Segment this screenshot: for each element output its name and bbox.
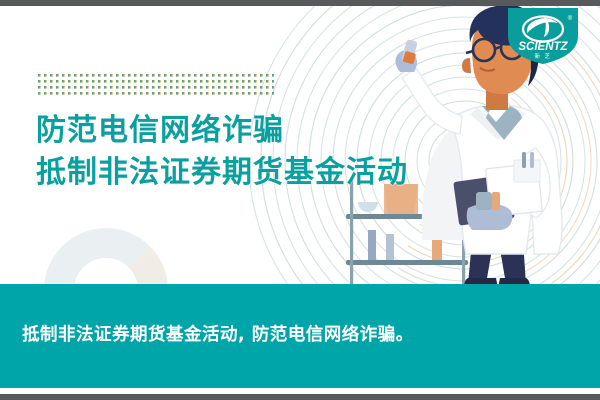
bottom-chrome-bar: [0, 394, 600, 400]
headline-block: 防范电信网络诈骗 抵制非法证券期货基金活动: [36, 110, 408, 194]
scientz-logo[interactable]: SCIENTZ 新 芝 ®: [504, 8, 582, 64]
poster-canvas: 防范电信网络诈骗 抵制非法证券期货基金活动: [0, 6, 600, 394]
headline-line-2: 抵制非法证券期货基金活动: [36, 152, 408, 194]
logo-wordmark: SCIENTZ: [518, 41, 568, 53]
registered-mark-icon: ®: [568, 15, 573, 22]
poster-root: 防范电信网络诈骗 抵制非法证券期货基金活动: [0, 0, 600, 400]
logo-sub-wordmark: 新 芝: [535, 52, 552, 60]
headline-line-1: 防范电信网络诈骗: [36, 110, 408, 152]
bottom-banner: 抵制非法证券期货基金活动, 防范电信网络诈骗。: [0, 284, 600, 388]
banner-slogan-text: 抵制非法证券期货基金活动, 防范电信网络诈骗。: [22, 321, 414, 346]
dot-grid-decoration: [38, 74, 274, 100]
